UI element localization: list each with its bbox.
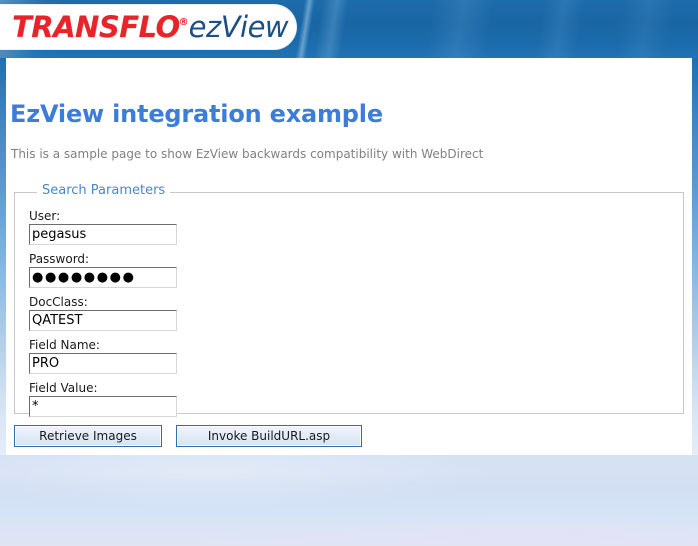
footer-sheen xyxy=(0,455,698,546)
banner-light-streak xyxy=(423,0,497,58)
right-accent-bar xyxy=(692,58,698,455)
page-subtitle: This is a sample page to show EzView bac… xyxy=(11,147,483,161)
field-value-input[interactable] xyxy=(29,396,177,417)
main-content: EzView integration example This is a sam… xyxy=(6,58,692,455)
right-accent-bar-gradient xyxy=(692,58,698,455)
page-title: EzView integration example xyxy=(10,100,383,128)
form-button-row: Retrieve Images Invoke BuildURL.asp xyxy=(14,425,362,447)
search-parameters-fieldset: Search Parameters User: Password: DocCla… xyxy=(14,192,684,414)
password-label: Password: xyxy=(29,252,89,267)
banner-light-streak xyxy=(311,0,351,58)
docclass-label: DocClass: xyxy=(29,295,88,310)
page-root: TRANSFLO®ezView EzView integration examp… xyxy=(0,0,698,546)
search-form: User: Password: DocClass: Field Name: Fi… xyxy=(29,205,177,420)
logo-ezview-text: ezView xyxy=(189,10,289,44)
page-footer xyxy=(0,455,698,546)
logo-plate: TRANSFLO®ezView xyxy=(0,5,296,49)
field-name-label: Field Name: xyxy=(29,338,100,353)
field-value-label: Field Value: xyxy=(29,381,98,396)
search-parameters-legend: Search Parameters xyxy=(37,183,170,198)
brand-logo[interactable]: TRANSFLO®ezView xyxy=(12,12,288,47)
banner-light-streak xyxy=(293,0,317,58)
user-label: User: xyxy=(29,209,60,224)
registered-trademark-icon: ® xyxy=(179,17,189,28)
invoke-buildurl-button[interactable]: Invoke BuildURL.asp xyxy=(176,425,362,447)
user-input[interactable] xyxy=(29,224,177,245)
logo-transflo-text: TRANSFLO xyxy=(12,10,180,44)
field-name-input[interactable] xyxy=(29,353,177,374)
password-input[interactable] xyxy=(29,267,177,288)
retrieve-images-button[interactable]: Retrieve Images xyxy=(14,425,162,447)
header-banner: TRANSFLO®ezView xyxy=(0,0,698,58)
banner-light-streak xyxy=(533,0,587,58)
banner-light-streak xyxy=(613,0,677,58)
docclass-input[interactable] xyxy=(29,310,177,331)
